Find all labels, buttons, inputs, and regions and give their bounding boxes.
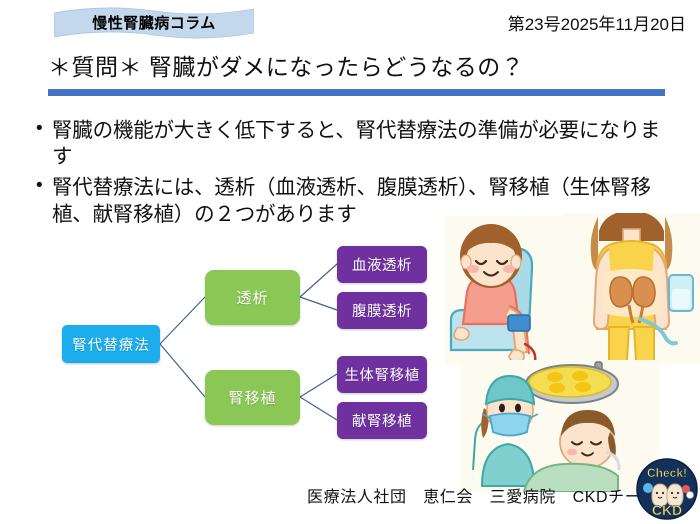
logo-bottom-text: CKD xyxy=(652,502,682,518)
peritoneal-dialysis-woman-icon xyxy=(563,213,700,364)
page-title: ＊質問＊ 腎臓がダメになったらどうなるの？ xyxy=(48,48,524,82)
issue-date: 第23号2025年11月20日 xyxy=(508,10,686,35)
diagram-node-living-donor-transplant[interactable]: 生体腎移植 xyxy=(337,356,427,393)
check-ckd-logo-icon: Check! CKD xyxy=(636,458,698,520)
check-ckd-logo: Check! CKD xyxy=(636,458,698,520)
illustration-hemodialysis xyxy=(445,216,563,364)
ribbon-label: 慢性腎臓病コラム xyxy=(54,7,254,39)
bullet-item: 腎臓の機能が大きく低下すると、腎代替療法の準備が必要になります xyxy=(34,118,664,170)
diagram-node-peritoneal-dialysis[interactable]: 腹膜透析 xyxy=(337,292,427,329)
footer-organization: 医療法人社団 恵仁会 三愛病院 CKDチーム xyxy=(307,483,658,507)
diagram-node-transplant[interactable]: 腎移植 xyxy=(205,370,300,425)
diagram-node-dialysis[interactable]: 透析 xyxy=(205,270,300,325)
hemodialysis-patient-icon xyxy=(445,216,563,364)
slide-canvas: 慢性腎臓病コラム 第23号2025年11月20日 ＊質問＊ 腎臓がダメになったら… xyxy=(0,0,700,524)
surgery-scene-icon xyxy=(460,360,660,492)
title-divider xyxy=(48,89,665,96)
diagram-node-root[interactable]: 腎代替療法 xyxy=(62,325,160,363)
column-ribbon-banner: 慢性腎臓病コラム xyxy=(54,7,254,39)
diagram-node-deceased-donor-transplant[interactable]: 献腎移植 xyxy=(337,402,427,439)
illustration-peritoneal-dialysis xyxy=(563,213,700,364)
illustration-transplant-surgery xyxy=(460,360,660,492)
renal-replacement-therapy-diagram: 腎代替療法 透析 腎移植 血液透析 腹膜透析 生体腎移植 献腎移植 xyxy=(0,240,470,470)
diagram-node-hemodialysis[interactable]: 血液透析 xyxy=(337,246,427,283)
logo-top-text: Check! xyxy=(647,466,687,480)
